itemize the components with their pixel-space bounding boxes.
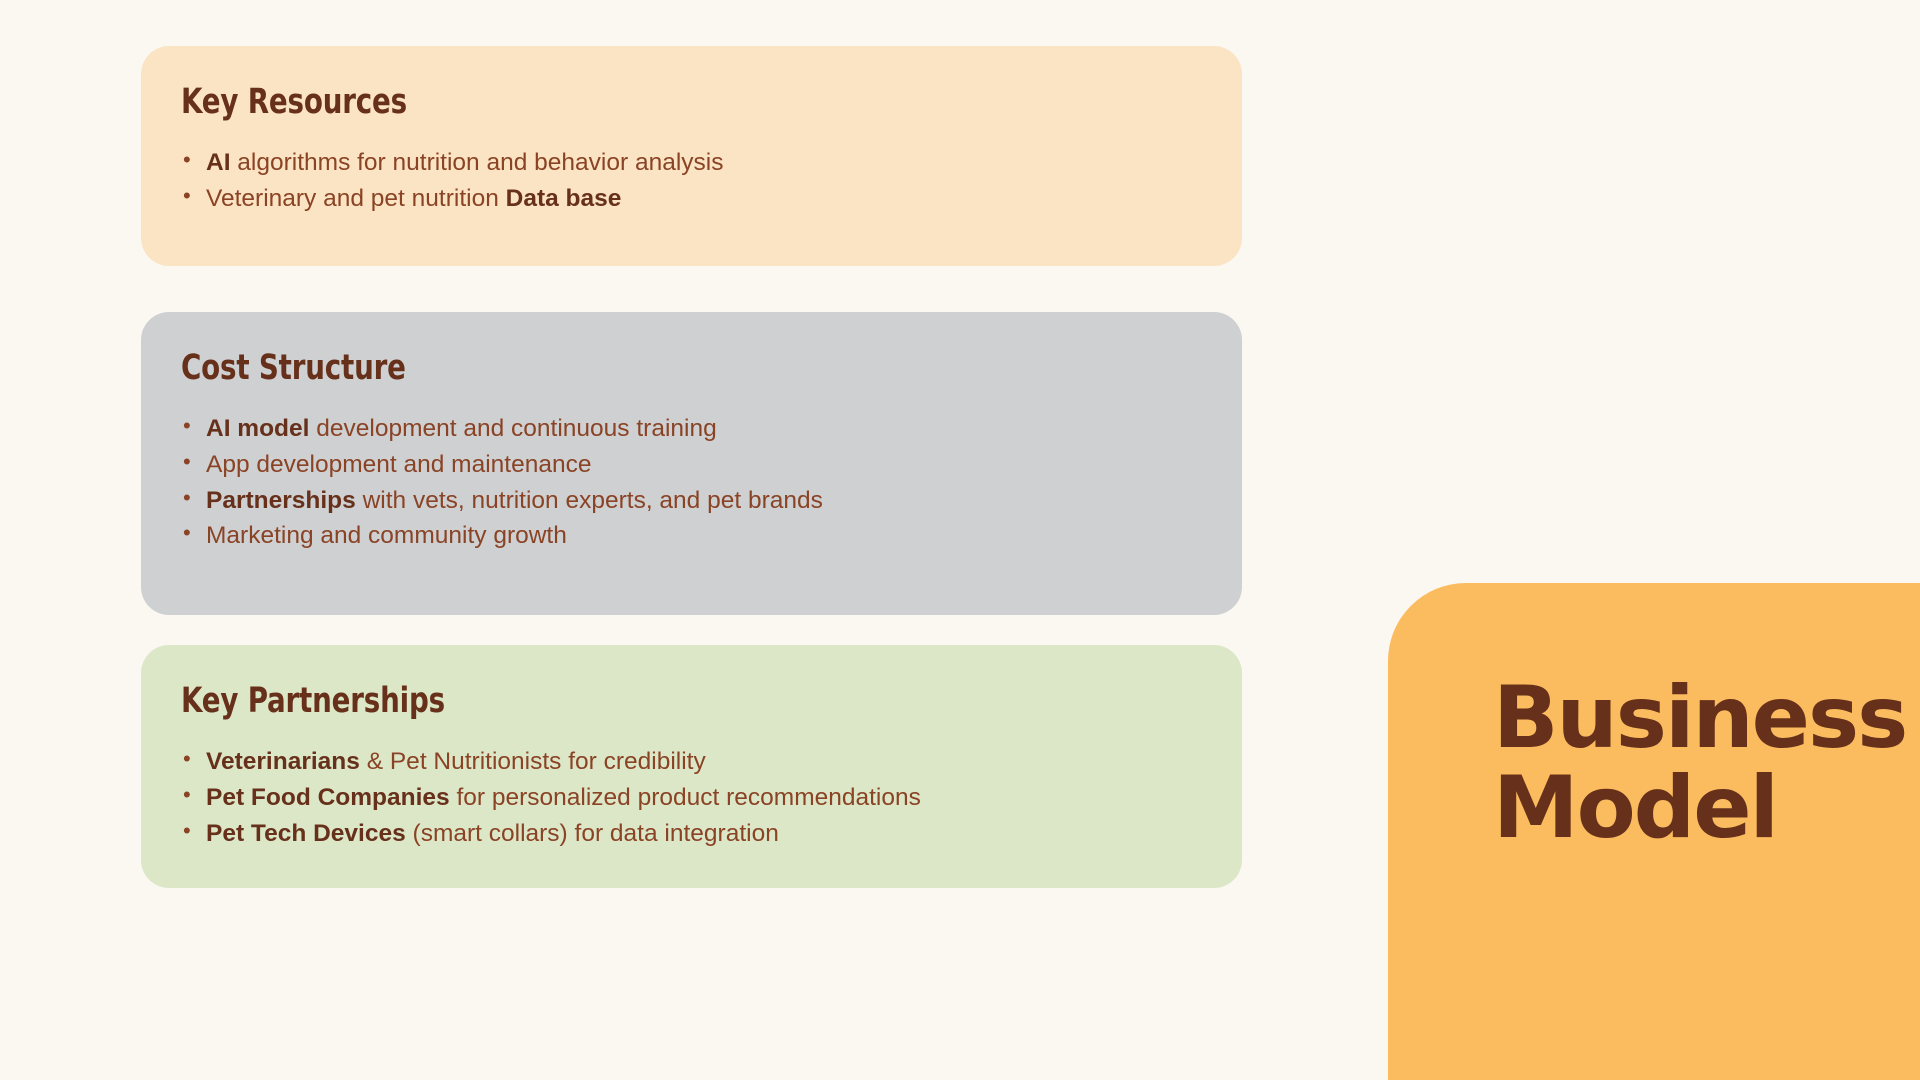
business-model-panel: Business Model [1388,583,1920,1080]
list-item: AI algorithms for nutrition and behavior… [181,148,1202,178]
list-item-text: Veterinary and pet nutrition [206,185,506,212]
bullet-list-key-resources: AI algorithms for nutrition and behavior… [181,148,1202,214]
list-item-text: Marketing and community growth [206,522,567,549]
list-item: Marketing and community growth [181,521,1202,551]
list-item-emphasis: Data base [506,185,622,212]
list-item-emphasis: AI model [206,415,309,442]
list-item-emphasis: AI [206,149,231,176]
list-item: Pet Food Companies for personalized prod… [181,783,1202,813]
list-item: Veterinarians & Pet Nutritionists for cr… [181,747,1202,777]
list-item-emphasis: Partnerships [206,487,356,514]
page-title-line-1: Business [1493,673,1913,763]
page-title: Business Model [1493,673,1913,854]
list-item-text: algorithms for nutrition and behavior an… [231,149,724,176]
bullet-list-cost-structure: AI model development and continuous trai… [181,414,1202,552]
list-item-text: (smart collars) for data integration [406,820,779,847]
card-title-key-resources: Key Resources [181,84,1079,121]
card-cost-structure: Cost Structure AI model development and … [141,312,1242,615]
list-item-text: App development and maintenance [206,451,591,478]
card-key-partnerships: Key Partnerships Veterinarians & Pet Nut… [141,645,1242,888]
list-item: Partnerships with vets, nutrition expert… [181,486,1202,516]
list-item: AI model development and continuous trai… [181,414,1202,444]
list-item-text: development and continuous training [309,415,716,442]
list-item-text: with vets, nutrition experts, and pet br… [356,487,823,514]
list-item-text: for personalized product recommendations [450,784,921,811]
card-key-resources: Key Resources AI algorithms for nutritio… [141,46,1242,266]
list-item-emphasis: Pet Food Companies [206,784,450,811]
list-item: Pet Tech Devices (smart collars) for dat… [181,819,1202,849]
bullet-list-key-partnerships: Veterinarians & Pet Nutritionists for cr… [181,747,1202,849]
list-item-emphasis: Pet Tech Devices [206,820,406,847]
list-item-emphasis: Veterinarians [206,748,360,775]
list-item-text: & Pet Nutritionists for credibility [360,748,706,775]
card-title-key-partnerships: Key Partnerships [181,683,1079,720]
list-item: App development and maintenance [181,450,1202,480]
page-title-line-2: Model [1493,763,1913,853]
slide-canvas: Key Resources AI algorithms for nutritio… [0,0,1920,1080]
card-title-cost-structure: Cost Structure [181,350,1079,387]
list-item: Veterinary and pet nutrition Data base [181,184,1202,214]
